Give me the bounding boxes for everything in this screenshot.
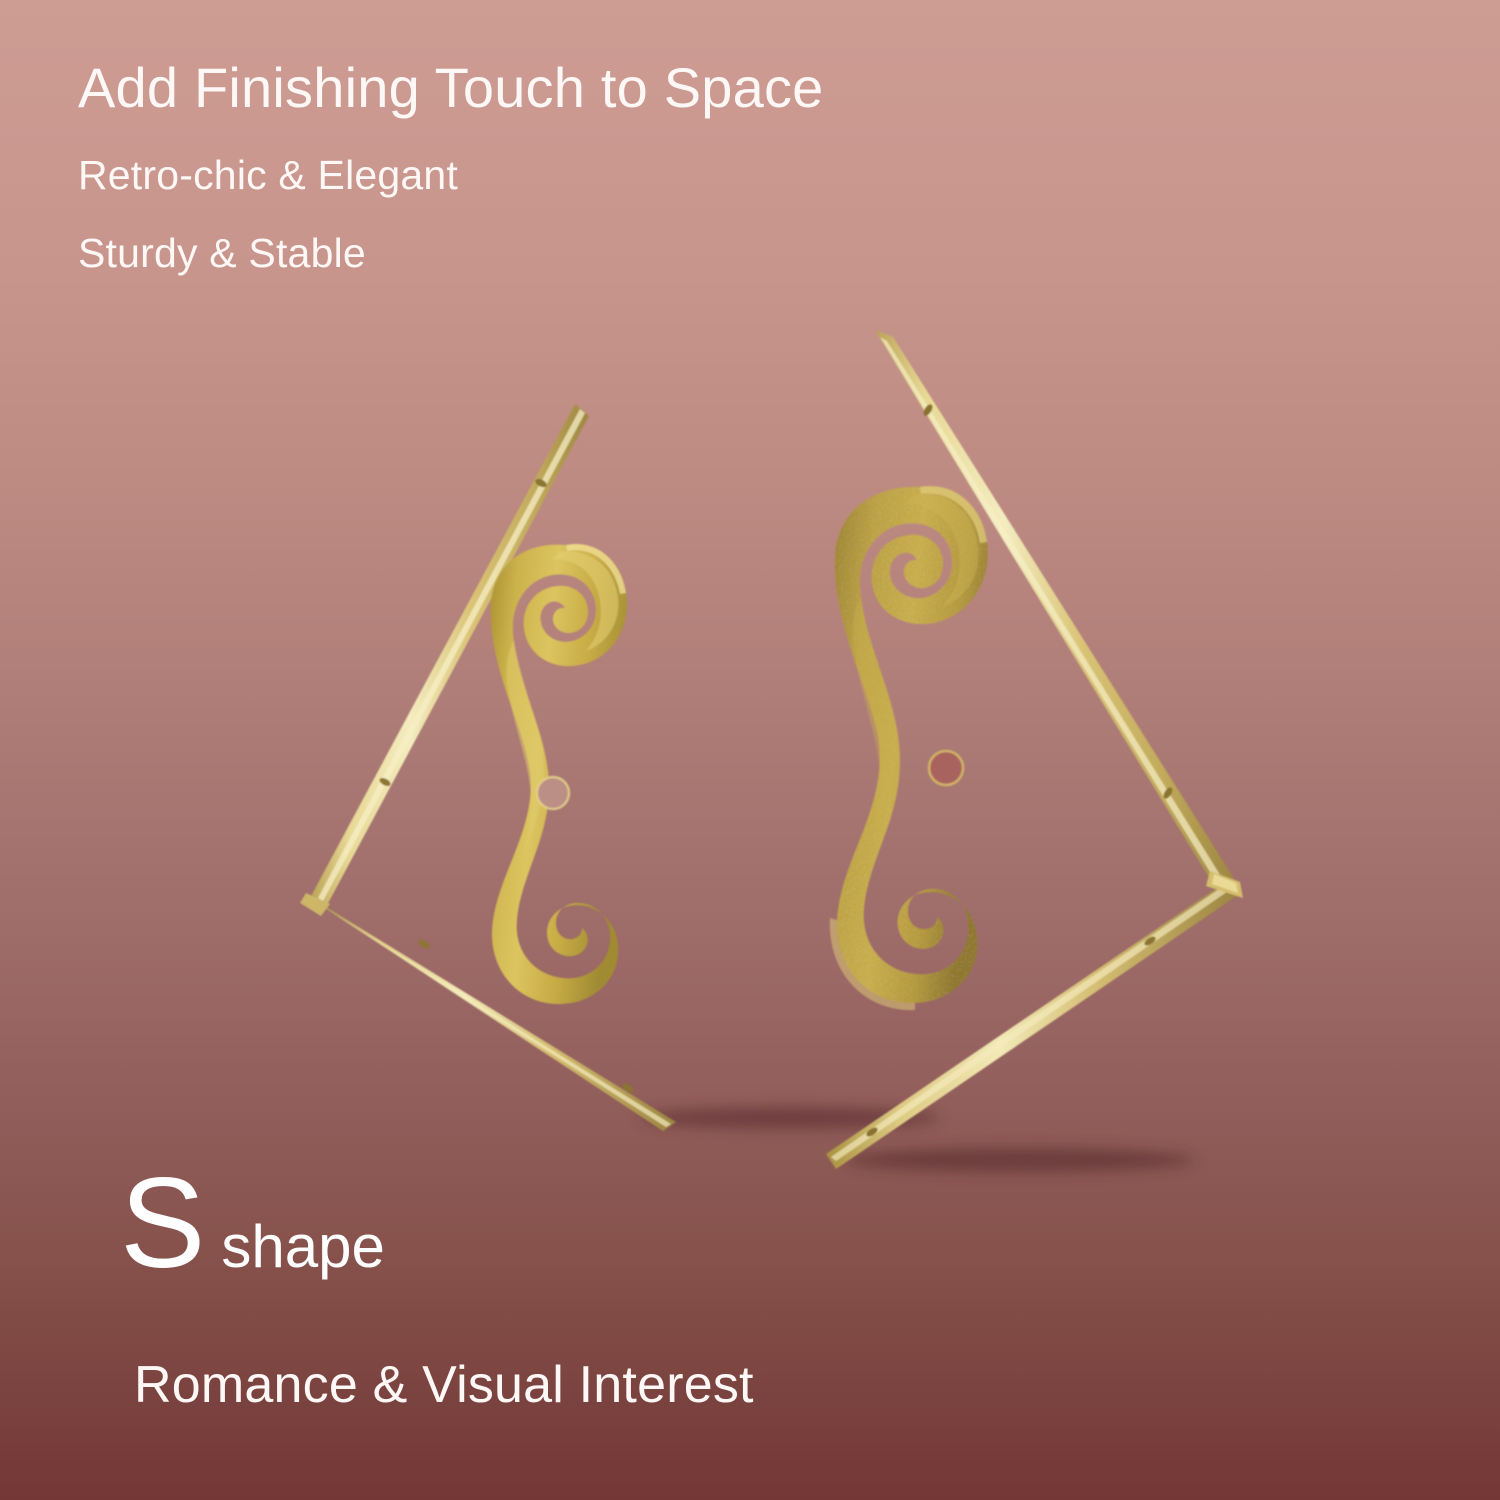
left-bracket — [300, 404, 676, 1131]
feature-bullet-2: Sturdy & Stable — [78, 230, 366, 277]
left-scroll-ornament — [491, 544, 627, 1004]
product-banner: Add Finishing Touch to Space Retro-chic … — [0, 0, 1500, 1500]
right-bracket — [826, 330, 1243, 1169]
shape-callout: S shape — [120, 1160, 385, 1288]
shape-letter: S — [120, 1160, 205, 1288]
shape-word: shape — [221, 1217, 384, 1277]
right-scroll-ornament — [835, 486, 988, 1003]
tagline: Romance & Visual Interest — [134, 1355, 754, 1415]
page-title: Add Finishing Touch to Space — [78, 55, 824, 120]
product-shadows — [640, 1107, 1195, 1172]
feature-bullet-1: Retro-chic & Elegant — [78, 152, 458, 199]
